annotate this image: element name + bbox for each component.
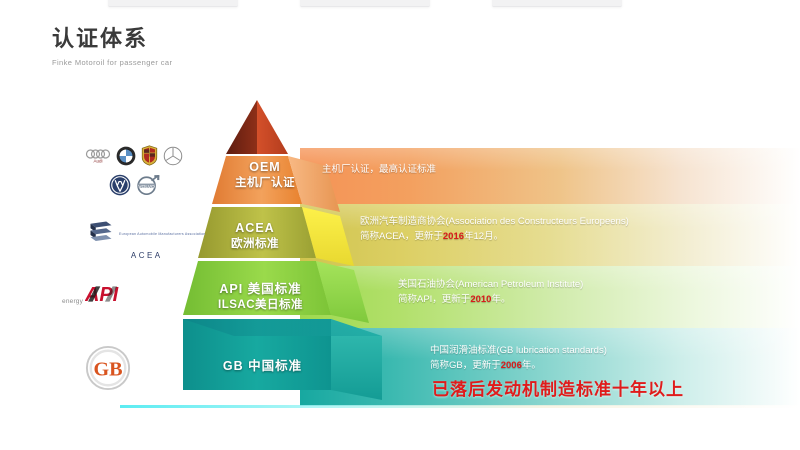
thumbnail-strip — [0, 0, 800, 14]
audi-logo-icon: Audi — [85, 148, 111, 169]
gb-year-highlight: 2006 — [501, 360, 522, 371]
page-subtitle: Finke Motoroil for passenger car — [52, 58, 172, 67]
thumbnail-3[interactable] — [492, 0, 622, 7]
description-oem: 主机厂认证，最高认证标准 — [322, 163, 436, 178]
api-year-highlight: 2010 — [470, 294, 491, 305]
slide-canvas: 认证体系 Finke Motoroil for passenger car — [0, 0, 800, 450]
gb-warning-text: 已落后发动机制造标准十年以上 — [432, 375, 684, 400]
gb-logo: GB — [85, 345, 131, 396]
tier-label-gb: GB 中国标准 — [170, 358, 355, 375]
thumbnail-1[interactable] — [108, 0, 238, 7]
porsche-logo-icon — [141, 145, 158, 171]
tier-label-acea: ACEA 欧洲标准 — [190, 220, 320, 252]
tier-label-api: API 美国标准 ILSAC美日标准 — [178, 281, 343, 313]
svg-text:Audi: Audi — [93, 158, 102, 163]
volkswagen-logo-icon — [109, 174, 131, 201]
api-energy-text: energy — [62, 298, 83, 305]
api-wordmark-icon: API — [85, 283, 131, 310]
acea-blocks-icon — [88, 220, 114, 249]
thumbnail-2[interactable] — [300, 0, 430, 7]
svg-text:VOLVO: VOLVO — [138, 184, 155, 190]
acea-full-name: European Automobile Manufacturers Associ… — [119, 232, 206, 237]
mercedes-logo-icon — [163, 146, 183, 171]
acea-logo: European Automobile Manufacturers Associ… — [88, 220, 206, 260]
volvo-logo-icon: VOLVO — [136, 175, 160, 200]
tier-label-oem: OEM 主机厂认证 — [205, 159, 325, 191]
description-api: 美国石油协会(American Petroleum Institute) 简称A… — [398, 278, 583, 307]
oem-brand-logos: Audi — [78, 145, 190, 201]
svg-text:GB: GB — [93, 359, 122, 381]
bmw-logo-icon — [116, 146, 136, 171]
description-gb: 中国润滑油标准(GB lubrication standards) 简称GB，更… — [430, 344, 607, 373]
page-title: 认证体系 — [52, 27, 172, 51]
acea-year-highlight: 2016 — [443, 231, 464, 242]
description-acea: 欧洲汽车制造商协会(Association des Constructeurs … — [360, 215, 629, 244]
acea-wordmark: ACEA — [131, 251, 163, 260]
slide-heading: 认证体系 Finke Motoroil for passenger car — [52, 27, 172, 67]
api-logo: energy API — [62, 283, 131, 310]
